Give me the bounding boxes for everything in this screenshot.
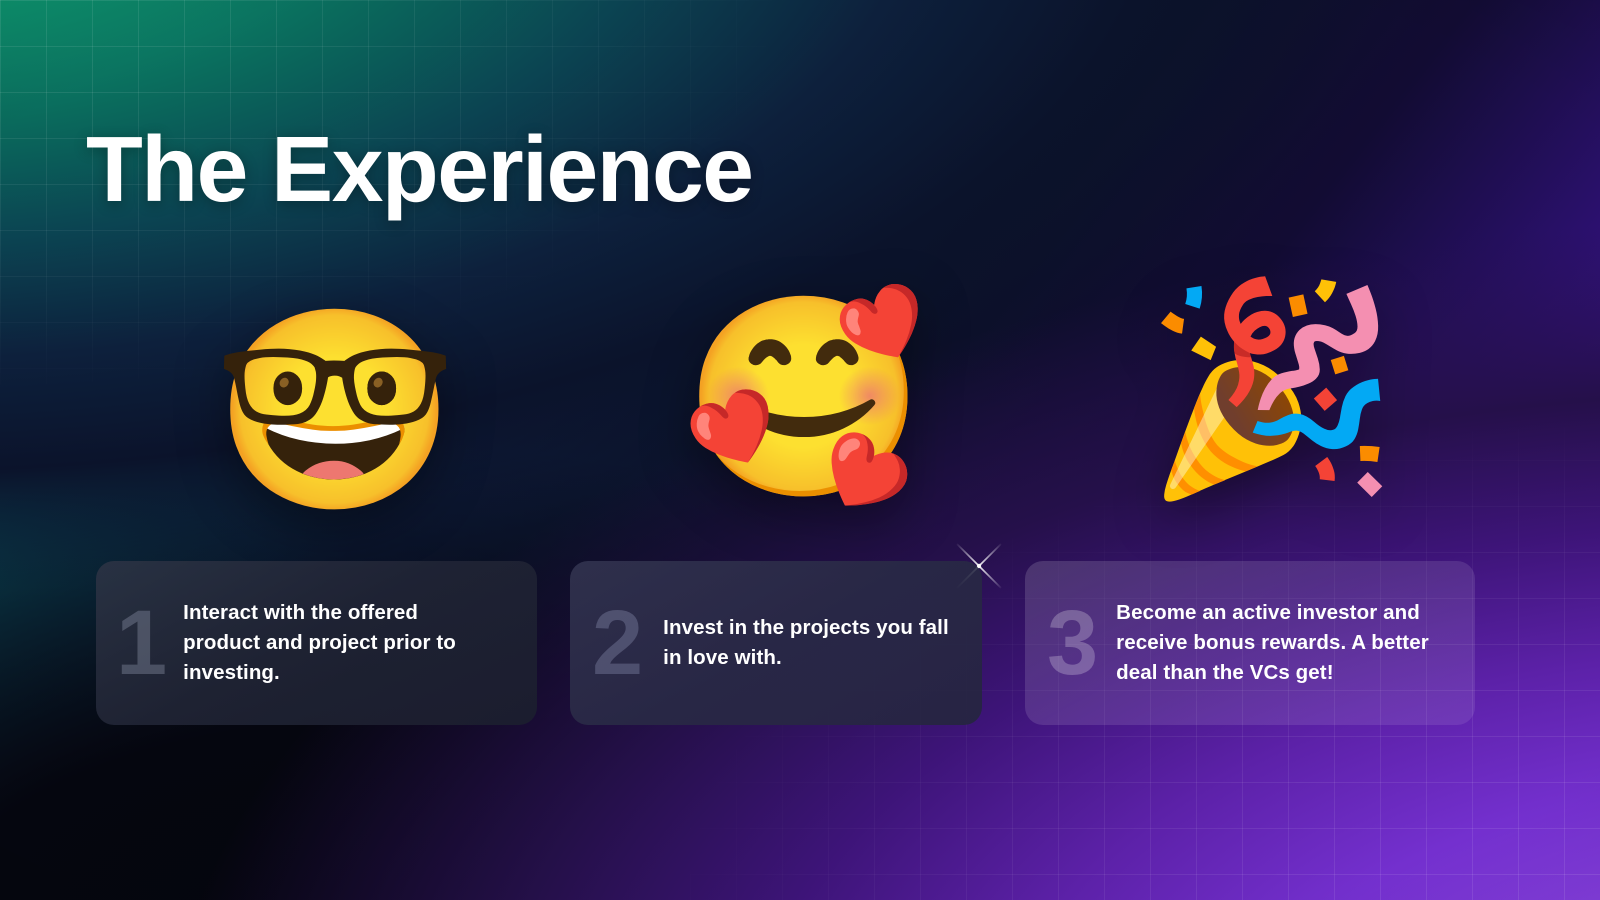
step-text-2: Invest in the projects you fall in love … [663, 613, 953, 673]
slide-canvas: The Experience 🤓 🥰 🎉 1 Interact with the… [0, 0, 1600, 900]
step-card-1[interactable]: 1 Interact with the offered product and … [96, 561, 537, 725]
step-card-2[interactable]: 2 Invest in the projects you fall in lov… [570, 561, 982, 725]
smiling-face-with-hearts-emoji: 🥰 [682, 300, 926, 496]
step-text-3: Become an active investor and receive bo… [1116, 598, 1436, 688]
step-card-3[interactable]: 3 Become an active investor and receive … [1025, 561, 1475, 725]
step-number-1: 1 [116, 597, 165, 689]
step-number-3: 3 [1047, 597, 1096, 689]
page-title: The Experience [86, 118, 752, 220]
step-number-2: 2 [592, 597, 641, 689]
nerd-face-emoji: 🤓 [213, 313, 457, 509]
step-text-1: Interact with the offered product and pr… [183, 598, 483, 688]
party-popper-emoji: 🎉 [1144, 286, 1399, 491]
